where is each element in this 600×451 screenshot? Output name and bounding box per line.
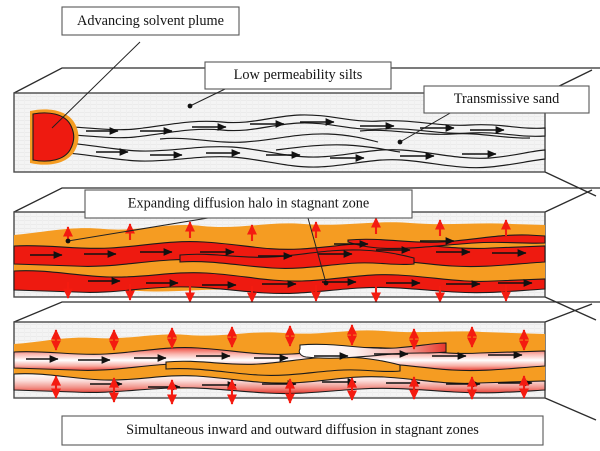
label-simultaneous-diffusion-text: Simultaneous inward and outward diffusio… [126, 422, 479, 438]
figure-root: Advancing solvent plume Low permeability… [0, 0, 600, 451]
label-expanding-diffusion-halo: Expanding diffusion halo in stagnant zon… [85, 190, 412, 218]
label-expanding-diffusion-halo-text: Expanding diffusion halo in stagnant zon… [128, 195, 370, 211]
panel-simultaneous-diffusion [14, 322, 545, 404]
label-simultaneous-diffusion: Simultaneous inward and outward diffusio… [62, 416, 543, 445]
diagram-canvas: Advancing solvent plume Low permeability… [0, 0, 600, 451]
label-low-permeability-silts: Low permeability silts [205, 62, 391, 89]
label-advancing-solvent-plume-text: Advancing solvent plume [77, 13, 224, 29]
label-low-permeability-silts-text: Low permeability silts [234, 67, 363, 83]
label-transmissive-sand-text: Transmissive sand [454, 91, 560, 107]
label-transmissive-sand: Transmissive sand [424, 86, 589, 113]
panel-expanding-halo [14, 212, 545, 302]
label-advancing-solvent-plume: Advancing solvent plume [62, 7, 239, 35]
